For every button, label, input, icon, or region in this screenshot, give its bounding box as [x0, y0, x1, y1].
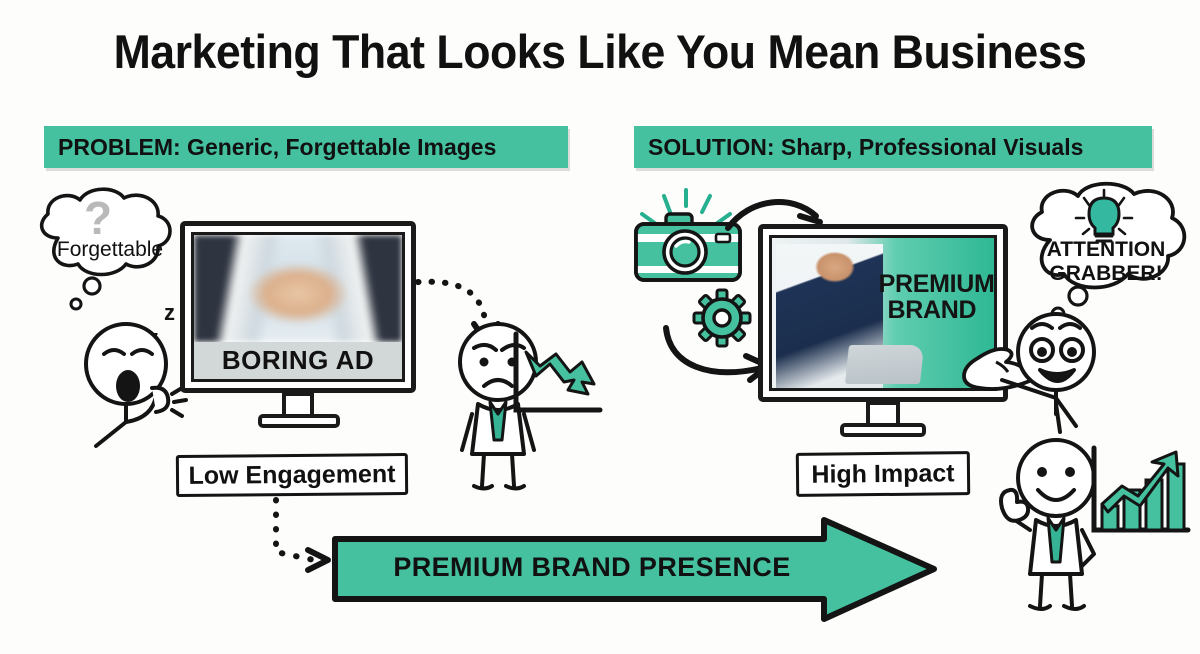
problem-badge-label: PROBLEM: Generic, Forgettable Images	[58, 134, 496, 161]
low-engagement-label: Low Engagement	[176, 453, 408, 497]
blurry-handshake-photo	[194, 235, 402, 342]
premium-brand-caption: PREMIUM BRAND	[879, 271, 986, 324]
solution-badge-label: SOLUTION: Sharp, Professional Visuals	[648, 134, 1083, 161]
right-monitor-stand-base	[840, 423, 926, 437]
attention-line2: GRABBER!	[1032, 262, 1180, 286]
solution-section-badge: SOLUTION: Sharp, Professional Visuals	[634, 126, 1152, 168]
page-title: Marketing That Looks Like You Mean Busin…	[30, 24, 1170, 79]
forgettable-bubble-label: Forgettable	[34, 238, 186, 262]
excited-stick-figure	[998, 306, 1114, 438]
premium-brand-line2: BRAND	[879, 297, 986, 323]
attention-line1: ATTENTION	[1032, 238, 1180, 262]
boring-ad-screen: BORING AD	[191, 232, 405, 382]
left-monitor-stand-base	[258, 414, 340, 428]
boring-ad-monitor: BORING AD	[180, 221, 416, 393]
lightbulb-icon	[1072, 188, 1136, 244]
high-impact-text: High Impact	[811, 459, 954, 489]
premium-brand-line1: PREMIUM	[879, 271, 986, 297]
low-engagement-text: Low Engagement	[188, 460, 395, 491]
declining-chart	[512, 330, 604, 426]
svg-text:?: ?	[84, 192, 112, 244]
tie-shape	[490, 402, 506, 440]
growth-bar-chart	[1090, 446, 1194, 550]
premium-brand-presence-label: PREMIUM BRAND PRESENCE	[332, 552, 852, 583]
declining-arrow-shape	[526, 352, 594, 394]
infographic-canvas: Marketing That Looks Like You Mean Busin…	[0, 0, 1200, 654]
attention-grabber-bubble-label: ATTENTION GRABBER!	[1032, 238, 1180, 285]
question-mark-icon: ?	[80, 196, 126, 244]
boring-ad-caption: BORING AD	[194, 342, 402, 379]
laptop-prop	[845, 345, 925, 384]
problem-section-badge: PROBLEM: Generic, Forgettable Images	[44, 126, 568, 168]
high-impact-label: High Impact	[796, 451, 970, 497]
